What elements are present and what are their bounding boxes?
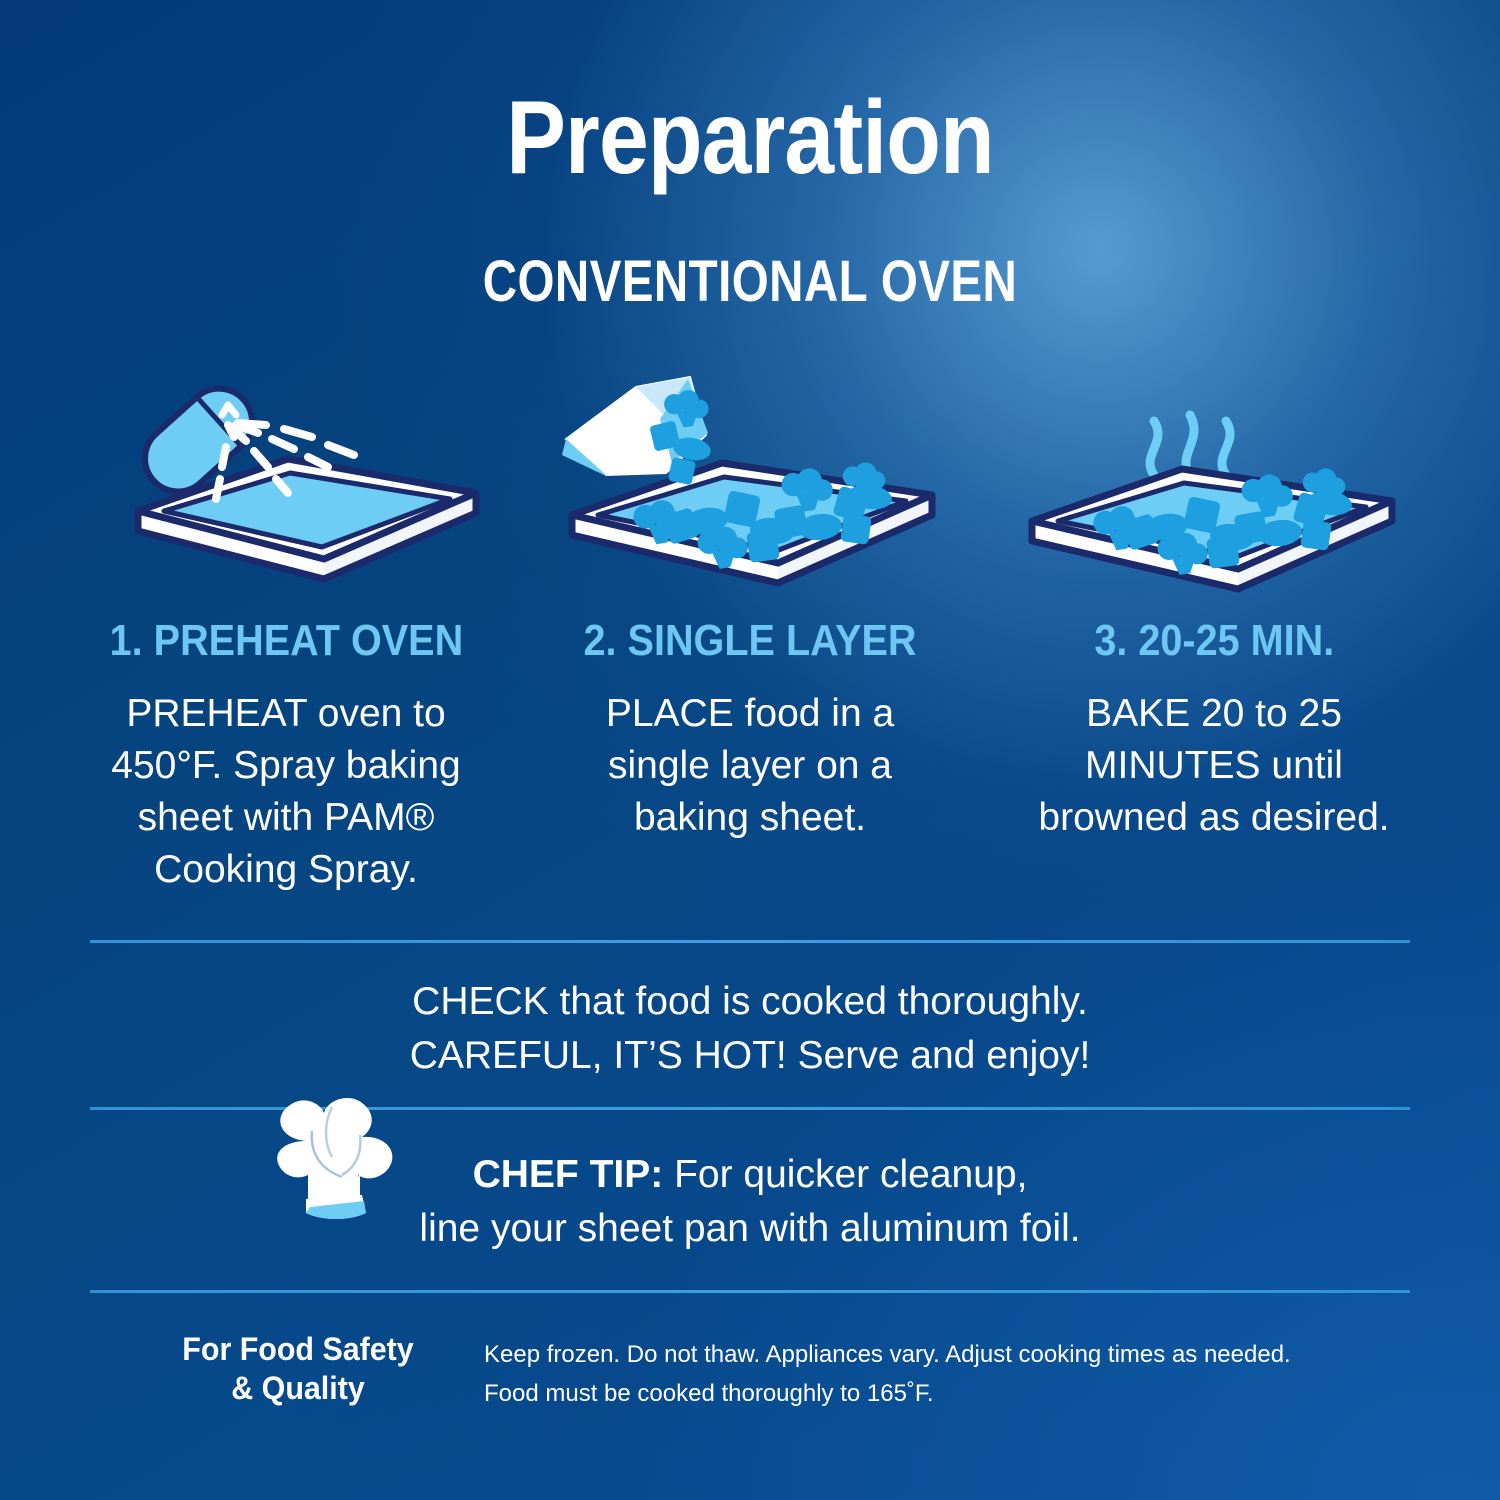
- spray-can-baking-sheet-icon: [55, 358, 517, 608]
- step-3: 3. 20-25 MIN. BAKE 20 to 25 MINUTES unti…: [983, 358, 1445, 844]
- step-2-body: PLACE food in a single layer on a baking…: [550, 688, 950, 844]
- step-1: 1. PREHEAT OVEN PREHEAT oven to 450°F. S…: [55, 358, 517, 895]
- check-line-1: CHECK that food is cooked thoroughly.: [0, 975, 1500, 1029]
- page-title: Preparation: [105, 84, 1395, 193]
- chef-tip-label: CHEF TIP:: [473, 1153, 664, 1196]
- footer-heading-line-2: & Quality: [156, 1369, 441, 1408]
- food-safety-footer: For Food Safety & Quality Keep frozen. D…: [148, 1330, 1428, 1414]
- step-3-heading: 3. 20-25 MIN.: [1094, 616, 1334, 666]
- steps-row: 1. PREHEAT OVEN PREHEAT oven to 450°F. S…: [55, 358, 1445, 895]
- step-1-body: PREHEAT oven to 450°F. Spray baking shee…: [86, 688, 486, 895]
- chef-tip-line-1: CHEF TIP: For quicker cleanup,: [0, 1148, 1500, 1202]
- footer-body: Keep frozen. Do not thaw. Appliances var…: [484, 1330, 1291, 1414]
- footer-heading: For Food Safety & Quality: [156, 1330, 441, 1408]
- check-line-2: CAREFUL, IT’S HOT! Serve and enjoy!: [0, 1029, 1500, 1083]
- chef-tip-line-2: line your sheet pan with aluminum foil.: [0, 1202, 1500, 1256]
- step-3-body: BAKE 20 to 25 MINUTES until browned as d…: [1014, 688, 1414, 844]
- bag-pouring-food-onto-sheet-icon: [519, 358, 981, 608]
- footer-body-line-1: Keep frozen. Do not thaw. Appliances var…: [484, 1336, 1291, 1375]
- steaming-baking-sheet-icon: [983, 358, 1445, 608]
- divider-above-check: [90, 940, 1410, 943]
- check-note: CHECK that food is cooked thoroughly. CA…: [0, 975, 1500, 1083]
- footer-body-line-2: Food must be cooked thoroughly to 165˚F.: [484, 1375, 1291, 1414]
- page-subtitle: CONVENTIONAL OVEN: [135, 252, 1365, 313]
- chef-tip-text: CHEF TIP: For quicker cleanup, line your…: [0, 1148, 1500, 1256]
- step-2: 2. SINGLE LAYER PLACE food in a single l…: [519, 358, 981, 844]
- divider-above-footer: [90, 1290, 1410, 1293]
- step-1-heading: 1. PREHEAT OVEN: [109, 616, 463, 666]
- footer-heading-line-1: For Food Safety: [156, 1330, 441, 1369]
- chef-tip-line-1-rest: For quicker cleanup,: [663, 1153, 1027, 1196]
- preparation-infographic: Preparation CONVENTIONAL OVEN: [0, 0, 1500, 1500]
- step-2-heading: 2. SINGLE LAYER: [583, 616, 916, 666]
